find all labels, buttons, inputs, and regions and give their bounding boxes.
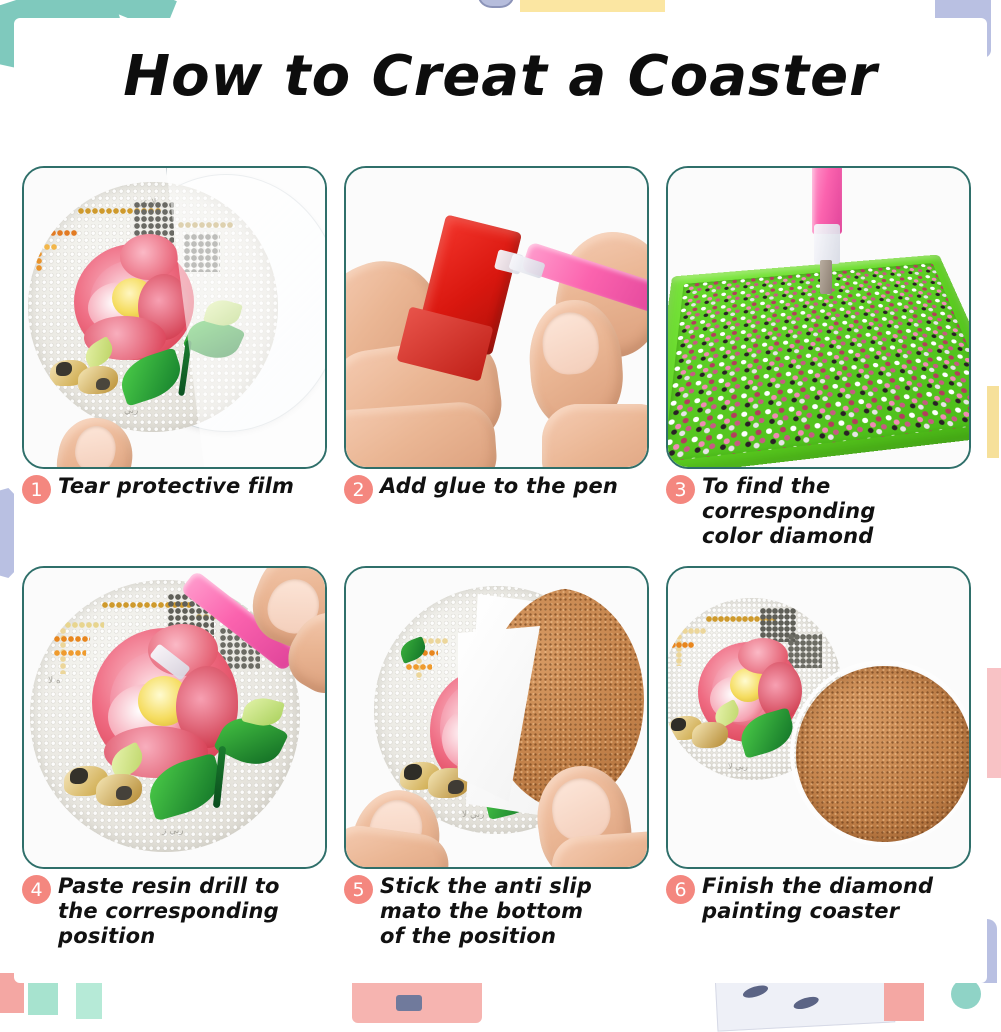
thumb-nail — [72, 423, 119, 469]
canvas-print-text-2: ربي لا — [462, 810, 484, 820]
decoration-top-yellow — [520, 0, 665, 12]
butterfly-body — [70, 768, 88, 784]
cork-disc — [796, 666, 971, 842]
canvas-print-text: ه لا — [48, 676, 61, 686]
butterfly-body — [404, 764, 422, 780]
step-6-badge: 6 — [666, 875, 695, 904]
step-6-caption: 6 Finish the diamond painting coaster — [666, 874, 981, 924]
canvas-print-text: ربي لا — [728, 762, 748, 771]
step-1-badge: 1 — [22, 475, 51, 504]
butterfly-spot — [116, 786, 132, 800]
step-3-caption-text: To find the corresponding color diamond — [702, 474, 876, 548]
decoration-bottom-right-teal-dot — [951, 979, 981, 1009]
photo-coaster-film: لا عز ربي — [24, 168, 325, 467]
step-2-caption: 2 Add glue to the pen — [344, 474, 659, 504]
step-3-badge: 3 — [666, 475, 695, 504]
step-4-caption-text: Paste resin drill to the corresponding p… — [58, 874, 280, 948]
step-1-image-panel: لا عز ربي — [22, 166, 327, 469]
right-hand-lower — [542, 404, 649, 469]
step-2-caption-text: Add glue to the pen — [380, 474, 618, 499]
orange-row-2 — [406, 664, 432, 671]
cream-col — [676, 634, 682, 666]
step-4-badge: 4 — [22, 875, 51, 904]
step-5-badge: 5 — [344, 875, 373, 904]
orange-row — [54, 636, 90, 643]
rose-top-petal — [120, 234, 178, 280]
canvas-print-text-2: ربي ز — [162, 826, 184, 836]
drill-tray-inner — [666, 263, 971, 462]
right-thumb-nail — [540, 310, 600, 376]
photo-glue-pen — [346, 168, 647, 467]
step-3: 3 To find the corresponding color diamon… — [666, 166, 971, 504]
page-title: How to Creat a Coaster — [0, 44, 1001, 109]
butterfly-wing-right — [692, 722, 728, 748]
canvas-print-text-2: ربي — [124, 406, 138, 416]
butterfly-motif — [64, 766, 148, 812]
resin-drills — [666, 263, 971, 462]
step-4-image-panel: ه لا ربي ز — [22, 566, 327, 869]
photo-drill-tray — [668, 168, 969, 467]
orange-row-2 — [30, 244, 58, 251]
step-6-caption-text: Finish the diamond painting coaster — [702, 874, 933, 924]
orange-col — [36, 237, 43, 271]
step-2: 2 Add glue to the pen — [344, 166, 649, 504]
step-1-caption: 1 Tear protective film — [22, 474, 337, 504]
step-4-caption: 4 Paste resin drill to the corresponding… — [22, 874, 337, 948]
step-5-caption: 5 Stick the anti slip mato the bottom of… — [344, 874, 659, 948]
step-4: ه لا ربي ز — [22, 566, 327, 904]
photo-paste-drill: ه لا ربي ز — [24, 568, 325, 867]
butterfly-spot — [448, 780, 464, 794]
orange-row-2 — [54, 650, 86, 657]
step-5-image-panel: لا عز ربي لا — [344, 566, 649, 869]
pen-clear-barrel — [814, 224, 840, 264]
step-5-caption-text: Stick the anti slip mato the bottom of t… — [380, 874, 592, 948]
decoration-top-gray-clip — [478, 0, 514, 8]
step-6-image-panel: ربي لا — [666, 566, 971, 869]
step-2-badge: 2 — [344, 475, 373, 504]
step-6: ربي لا — [666, 566, 971, 904]
butterfly-motif — [668, 716, 732, 752]
step-3-caption: 3 To find the corresponding color diamon… — [666, 474, 981, 548]
steps-grid: لا عز ربي — [22, 166, 980, 904]
butterfly-body — [671, 718, 686, 731]
photo-finished: ربي لا — [668, 568, 969, 867]
decoration-bottom-pink — [352, 977, 482, 1023]
step-2-image-panel — [344, 166, 649, 469]
pen-metal-tip — [820, 260, 832, 294]
drill-tray — [666, 255, 971, 469]
cork-grain — [796, 666, 971, 842]
step-3-image-panel — [666, 166, 971, 469]
step-1-caption-text: Tear protective film — [58, 474, 294, 499]
orange-row — [36, 230, 78, 237]
butterfly-spot — [96, 378, 110, 390]
photo-cork-stick: لا عز ربي لا — [346, 568, 647, 867]
step-1: لا عز ربي — [22, 166, 327, 504]
step-5: لا عز ربي لا — [344, 566, 649, 904]
orange-row — [670, 642, 694, 648]
butterfly-body — [56, 362, 72, 376]
butterfly-motif — [50, 360, 122, 400]
left-hand-lower — [344, 400, 499, 469]
grey-dot-cluster-2 — [788, 634, 822, 668]
